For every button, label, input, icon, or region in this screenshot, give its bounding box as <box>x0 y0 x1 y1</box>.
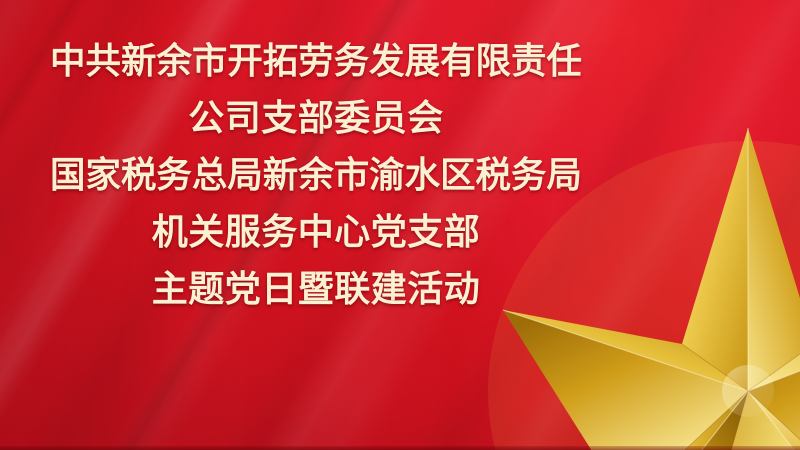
title-line-2: 公司支部委员会 <box>0 101 632 137</box>
title-line-3: 国家税务总局新余市渝水区税务局 <box>5 158 628 194</box>
title-line-5: 主题党日暨联建活动 <box>0 272 632 308</box>
title-line-4: 机关服务中心党支部 <box>0 215 632 251</box>
title-line-1: 中共新余市开拓劳务发展有限责任 <box>5 44 628 80</box>
banner-title-block: 中共新余市开拓劳务发展有限责任 公司支部委员会 国家税务总局新余市渝水区税务局 … <box>0 44 632 308</box>
banner-poster: 中共新余市开拓劳务发展有限责任 公司支部委员会 国家税务总局新余市渝水区税务局 … <box>0 0 800 450</box>
